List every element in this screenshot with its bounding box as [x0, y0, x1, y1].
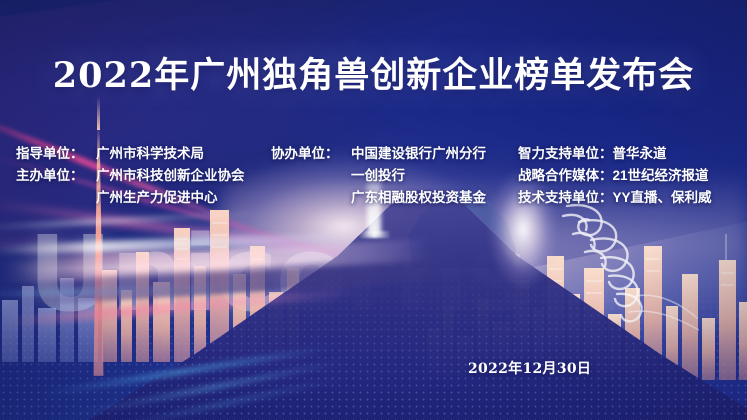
- credit-line: 协办单位： 中国建设银行广州分行: [271, 143, 486, 165]
- credit-value: 广东相融股权投资基金: [351, 187, 486, 209]
- credit-line: 智力支持单位： 普华永道: [518, 143, 712, 165]
- credit-value: 广州市科学技术局: [96, 143, 204, 165]
- credit-label: [271, 165, 351, 187]
- event-poster: Unicorns: [0, 0, 747, 420]
- credit-column-guidance-host: 指导单位： 广州市科学技术局 主办单位： 广州市科技创新企业协会 广州生产力促进…: [16, 143, 245, 209]
- credit-value: YY直播、保利威: [613, 187, 712, 209]
- credit-value: 中国建设银行广州分行: [351, 143, 486, 165]
- credit-label: 指导单位：: [16, 143, 96, 165]
- credit-label: 战略合作媒体：: [518, 165, 613, 187]
- credit-label: 智力支持单位：: [518, 143, 613, 165]
- credit-value: 广州市科技创新企业协会: [96, 165, 245, 187]
- credit-line: 一创投行: [271, 165, 486, 187]
- credit-label: [271, 187, 351, 209]
- credit-value: 21世纪经济报道: [613, 165, 709, 187]
- credit-line: 指导单位： 广州市科学技术局: [16, 143, 245, 165]
- credit-column-co-organizers: 协办单位： 中国建设银行广州分行 一创投行 广东相融股权投资基金: [271, 143, 486, 209]
- credit-label: [16, 187, 96, 209]
- event-date: 2022年12月30日: [468, 358, 591, 378]
- credit-line: 技术支持单位： YY直播、保利威: [518, 187, 712, 209]
- poster-content: 2022年广州独角兽创新企业榜单发布会 指导单位： 广州市科学技术局 主办单位：…: [0, 0, 747, 420]
- credit-line: 战略合作媒体： 21世纪经济报道: [518, 165, 712, 187]
- credit-value: 一创投行: [351, 165, 405, 187]
- credit-value: 广州生产力促进中心: [96, 187, 218, 209]
- credit-line: 广东相融股权投资基金: [271, 187, 486, 209]
- organizer-credits: 指导单位： 广州市科学技术局 主办单位： 广州市科技创新企业协会 广州生产力促进…: [0, 143, 747, 213]
- credit-value: 普华永道: [613, 143, 667, 165]
- credit-column-support-media: 智力支持单位： 普华永道 战略合作媒体： 21世纪经济报道 技术支持单位： YY…: [518, 143, 712, 209]
- credit-line: 主办单位： 广州市科技创新企业协会: [16, 165, 245, 187]
- credit-line: 广州生产力促进中心: [16, 187, 245, 209]
- poster-title: 2022年广州独角兽创新企业榜单发布会: [0, 47, 747, 98]
- credit-label: 协办单位：: [271, 143, 351, 165]
- credit-label: 主办单位：: [16, 165, 96, 187]
- credit-label: 技术支持单位：: [518, 187, 613, 209]
